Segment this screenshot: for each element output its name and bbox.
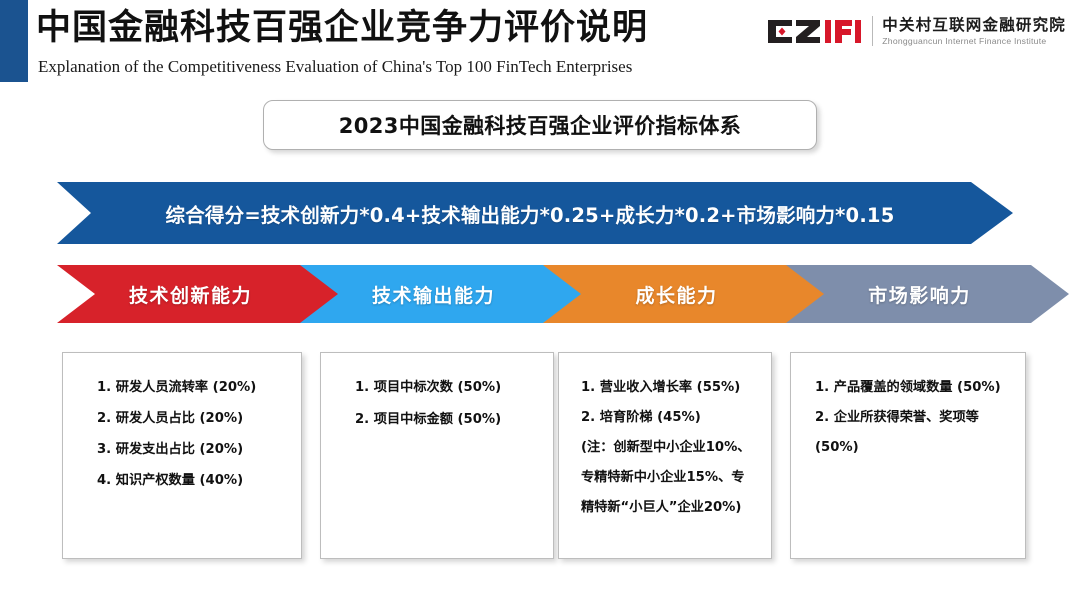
indicator-box-tech-innovation: 1. 研发人员流转率 (20%)2. 研发人员占比 (20%)3. 研发支出占比… — [62, 352, 302, 559]
indicator-box-row: 1. 研发人员流转率 (20%)2. 研发人员占比 (20%)3. 研发支出占比… — [0, 352, 1080, 564]
chevron-growth[interactable]: 成长能力 — [543, 265, 826, 323]
indicator-box-growth: 1. 营业收入增长率 (55%)2. 培育阶梯 (45%)(注：创新型中小企业1… — [558, 352, 772, 559]
score-formula-text: 综合得分=技术创新力*0.4+技术输出能力*0.25+成长力*0.2+市场影响力… — [166, 199, 905, 228]
indicator-line: 专精特新中小企业15%、专 — [573, 469, 757, 486]
indicator-line: 2. 培育阶梯 (45%) — [573, 409, 757, 426]
indicator-line: 1. 项目中标次数 (50%) — [335, 379, 539, 396]
chevron-tech-innovation[interactable]: 技术创新能力 — [57, 265, 340, 323]
indicator-line: 1. 产品覆盖的领域数量 (50%) — [805, 379, 1011, 396]
slide-root: 中国金融科技百强企业竞争力评价说明 Explanation of the Com… — [0, 0, 1080, 608]
logo-divider — [872, 16, 873, 46]
chevron-tech-output[interactable]: 技术输出能力 — [300, 265, 583, 323]
page-title-en: Explanation of the Competitiveness Evalu… — [38, 56, 632, 78]
indicator-line: 2. 研发人员占比 (20%) — [77, 410, 287, 427]
framework-title-text: 2023中国金融科技百强企业评价指标体系 — [339, 110, 741, 140]
chevron-label: 市场影响力 — [868, 281, 987, 308]
dimension-chevron-row: 技术创新能力 技术输出能力 成长能力 市场影响力 — [0, 265, 1080, 323]
header-accent-bar — [0, 0, 28, 82]
framework-title-box: 2023中国金融科技百强企业评价指标体系 — [263, 100, 817, 150]
chevron-label: 技术创新能力 — [129, 281, 268, 308]
indicator-line: 精特新“小巨人”企业20%) — [573, 499, 757, 516]
chevron-label: 技术输出能力 — [372, 281, 511, 308]
indicator-line: 1. 研发人员流转率 (20%) — [77, 379, 287, 396]
indicator-line: 2. 企业所获得荣誉、奖项等 — [805, 409, 1011, 426]
chevron-market-influence[interactable]: 市场影响力 — [786, 265, 1069, 323]
indicator-line: (50%) — [805, 439, 1011, 456]
czifi-wordmark-icon — [766, 18, 862, 45]
score-formula-banner: 综合得分=技术创新力*0.4+技术输出能力*0.25+成长力*0.2+市场影响力… — [57, 182, 1013, 244]
indicator-line: 2. 项目中标金额 (50%) — [335, 411, 539, 428]
logo-text: 中关村互联网金融研究院 Zhongguancun Internet Financ… — [882, 16, 1066, 47]
indicator-box-market-influence: 1. 产品覆盖的领域数量 (50%)2. 企业所获得荣誉、奖项等(50%) — [790, 352, 1026, 559]
indicator-line: 3. 研发支出占比 (20%) — [77, 441, 287, 458]
indicator-box-tech-output: 1. 项目中标次数 (50%)2. 项目中标金额 (50%) — [320, 352, 554, 559]
logo-name-cn: 中关村互联网金融研究院 — [882, 16, 1066, 34]
chevron-label: 成长能力 — [635, 281, 733, 308]
page-title-cn: 中国金融科技百强企业竞争力评价说明 — [36, 6, 648, 50]
indicator-line: (注：创新型中小企业10%、 — [573, 439, 757, 456]
institute-logo: 中关村互联网金融研究院 Zhongguancun Internet Financ… — [766, 11, 1066, 51]
indicator-line: 1. 营业收入增长率 (55%) — [573, 379, 757, 396]
indicator-line: 4. 知识产权数量 (40%) — [77, 472, 287, 489]
logo-name-en: Zhongguancun Internet Finance Institute — [882, 35, 1066, 47]
